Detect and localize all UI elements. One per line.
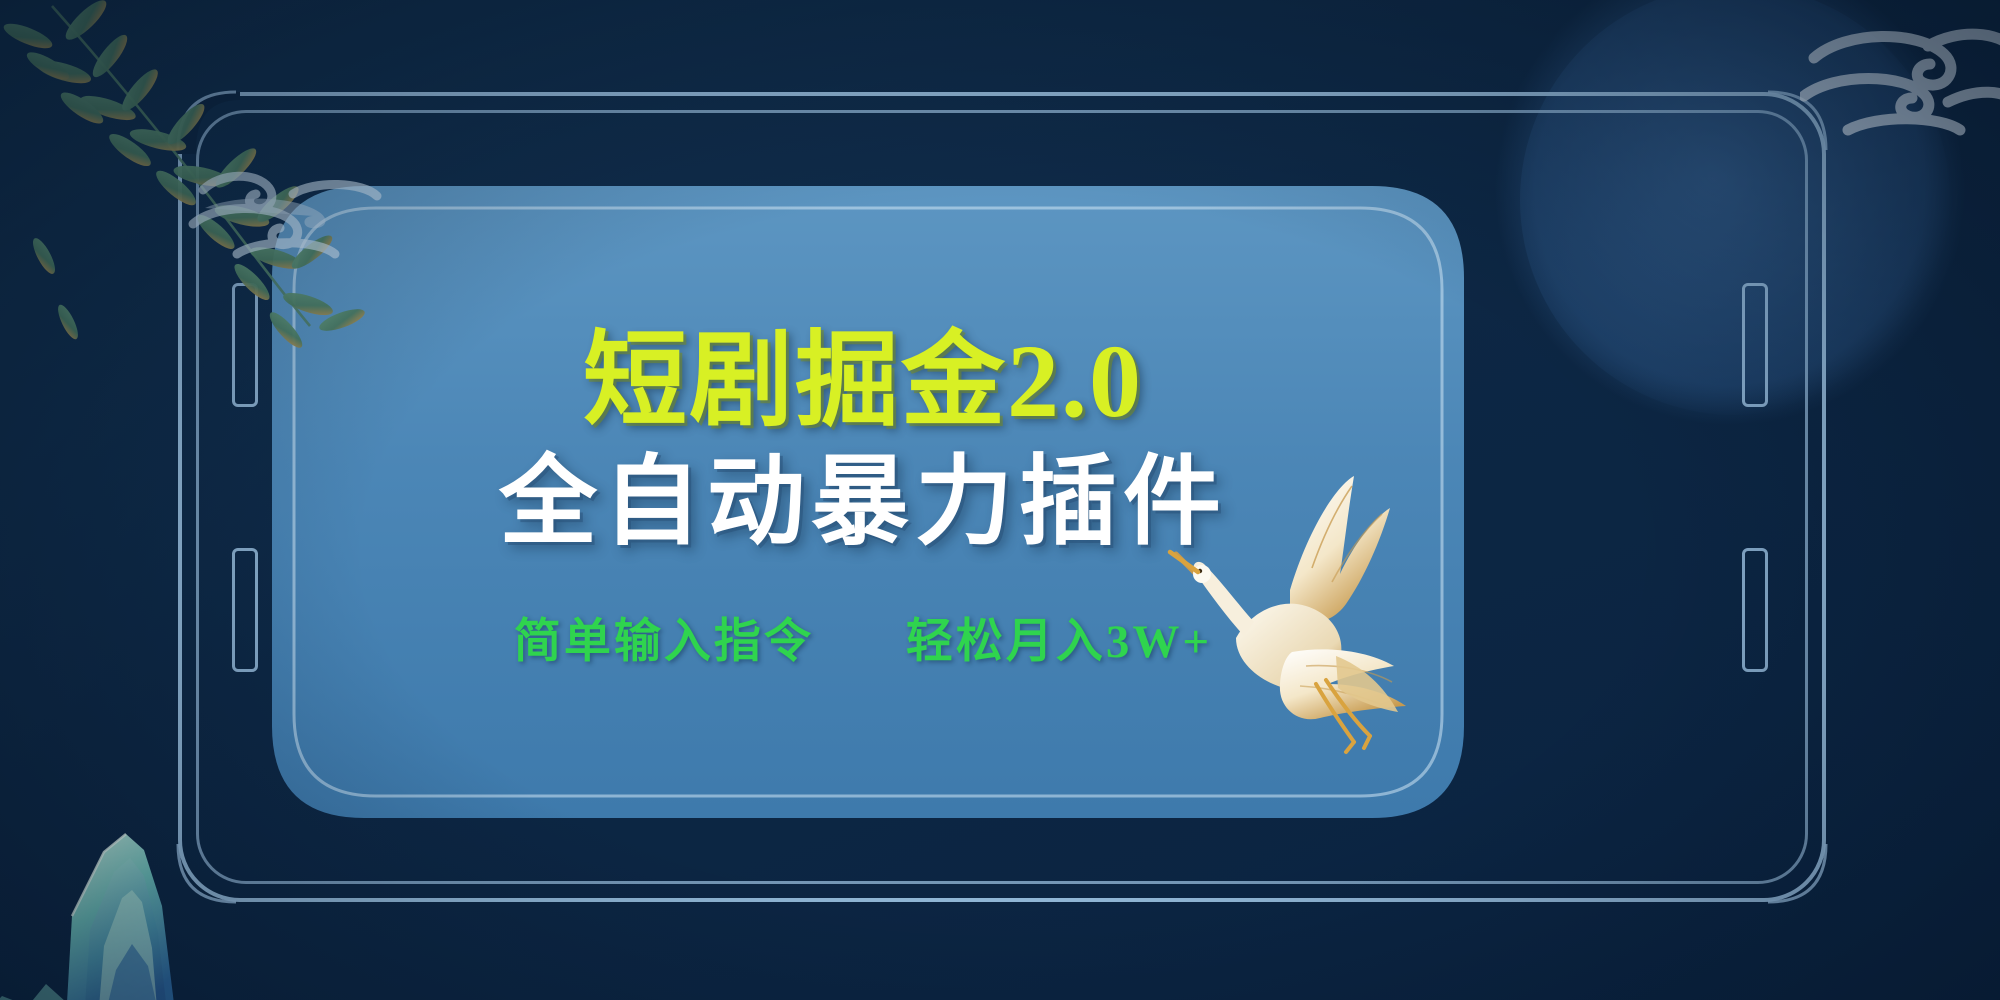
tagline-right: 轻松月入3W+: [906, 602, 1212, 671]
right-bar-ornament-top: [1742, 283, 1768, 407]
poster-text-block: 短剧掘金2.0 全自动暴力插件 简单输入指令 轻松月入3W+: [272, 186, 1454, 812]
page-subtitle: 全自动暴力插件: [499, 452, 1227, 556]
left-bar-ornament-top: [232, 283, 258, 407]
tagline-row: 简单输入指令 轻松月入3W+: [514, 602, 1212, 671]
right-bar-ornament-bottom: [1742, 548, 1768, 672]
poster-canvas: 短剧掘金2.0 全自动暴力插件 简单输入指令 轻松月入3W+: [0, 0, 2000, 1000]
left-bar-ornament-bottom: [232, 548, 258, 672]
page-title: 短剧掘金2.0: [583, 327, 1143, 437]
tagline-left: 简单输入指令: [514, 602, 814, 671]
